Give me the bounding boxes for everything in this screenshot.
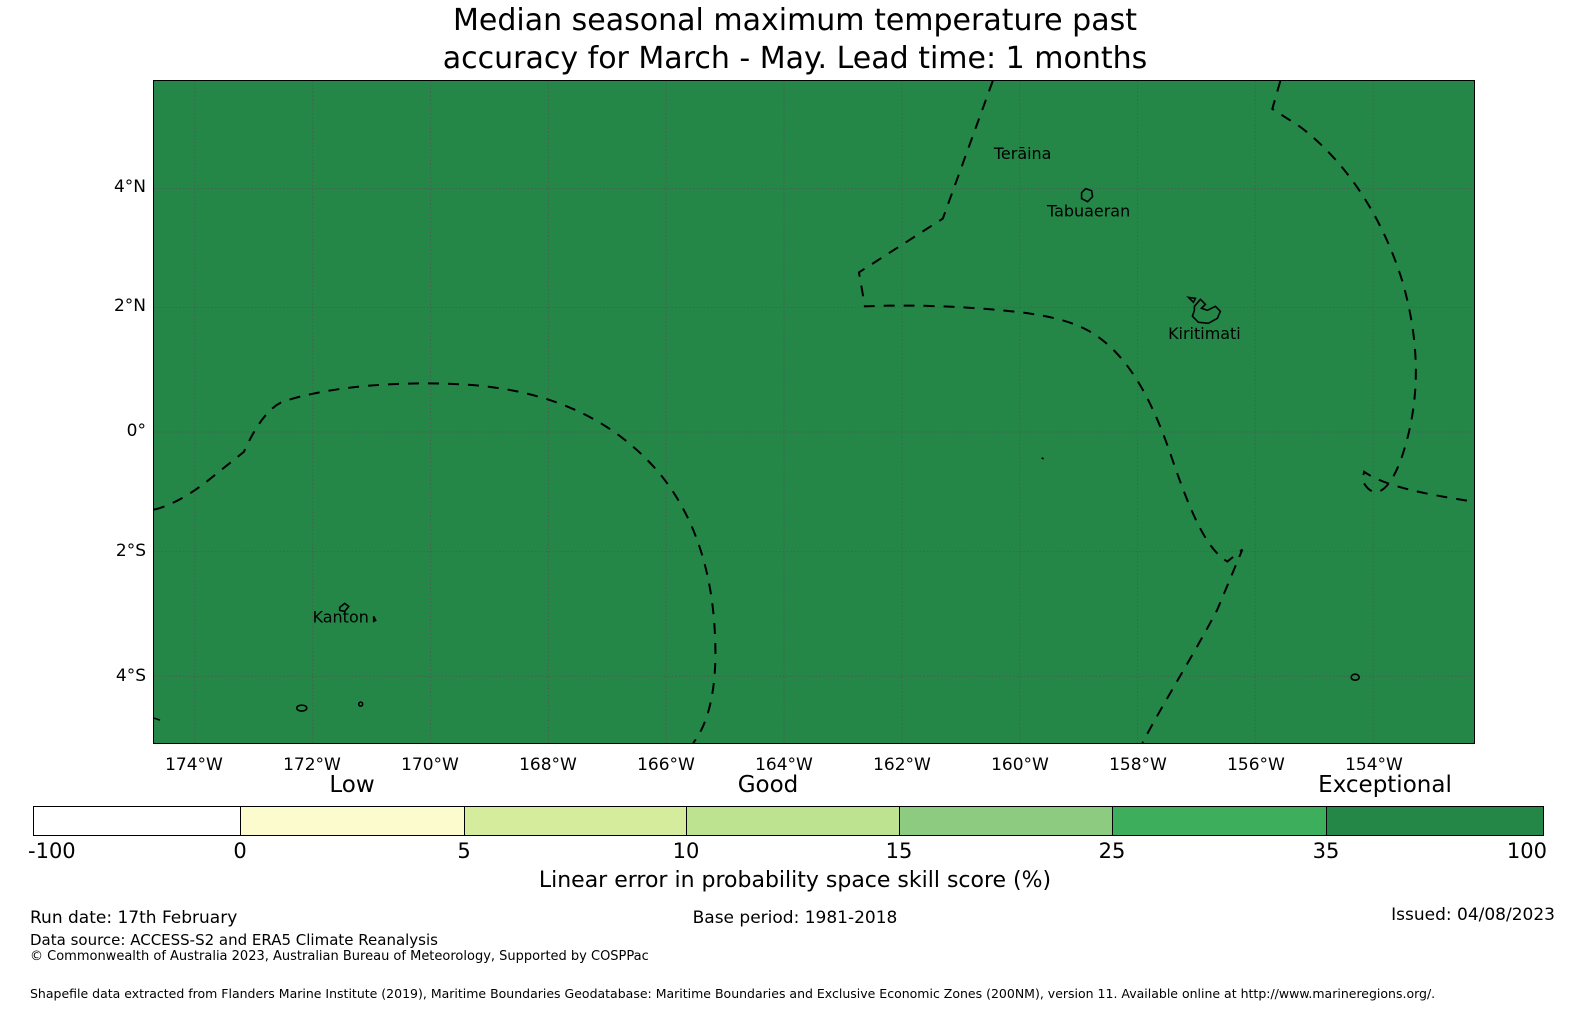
latitude-axis: 4°N 2°N 0° 2°S 4°S [68, 80, 146, 744]
colorbar-segment-25-35 [1113, 807, 1327, 835]
ytick-4n: 4°N [76, 179, 146, 196]
colorbar [33, 806, 1544, 836]
colorbar-segment-15-25 [900, 807, 1113, 835]
colorbar-segment-35-100 [1327, 807, 1543, 835]
island-label-teraina: Terāina [993, 144, 1052, 163]
ytick-0: 0° [76, 423, 146, 440]
footer-copyright: © Commonwealth of Australia 2023, Austra… [30, 948, 649, 965]
ytick-2s: 2°S [76, 543, 146, 560]
island-label-tabuaeran: Tabuaeran [1046, 202, 1130, 221]
colorbar-category-good: Good [618, 772, 918, 799]
page-title: Median seasonal maximum temperature past… [0, 2, 1590, 78]
ytick-2n: 2°N [76, 298, 146, 315]
ytick-4s: 4°S [76, 668, 146, 685]
colorbar-tick-0: 0 [160, 839, 320, 863]
colorbar-axis-label: Linear error in probability space skill … [0, 868, 1590, 894]
colorbar-category-low: Low [202, 772, 502, 799]
colorbar-segment-neg100-0 [34, 807, 241, 835]
island-label-kanton: Kanton [313, 607, 369, 626]
colorbar-segment-10-15 [687, 807, 900, 835]
colorbar-tick-25: 25 [1032, 839, 1192, 863]
footer-shapefile-attribution: Shapefile data extracted from Flanders M… [30, 986, 1435, 1002]
colorbar-tick-10: 10 [606, 839, 766, 863]
colorbar-tick-100: 100 [1387, 839, 1547, 863]
colorbar-category-exceptional: Exceptional [1235, 772, 1535, 799]
map-plot-area: Terāina Tabuaeran Kiritimati Kanton [153, 80, 1475, 744]
colorbar-tick-35: 35 [1246, 839, 1406, 863]
map-svg: Terāina Tabuaeran Kiritimati Kanton [154, 81, 1474, 743]
colorbar-tick-15: 15 [819, 839, 979, 863]
colorbar-segment-0-5 [241, 807, 465, 835]
colorbar-tick-5: 5 [384, 839, 544, 863]
colorbar-category-labels: Low Good Exceptional [0, 772, 1590, 802]
colorbar-tick-labels: -100 0 5 10 15 25 35 100 [33, 839, 1544, 865]
footer-issued: Issued: 04/08/2023 [1391, 905, 1555, 926]
island-label-kiritimati: Kiritimati [1168, 324, 1241, 343]
skill-field-fill [154, 81, 1474, 743]
footer-base-period: Base period: 1981-2018 [0, 908, 1590, 929]
colorbar-segment-5-10 [465, 807, 687, 835]
